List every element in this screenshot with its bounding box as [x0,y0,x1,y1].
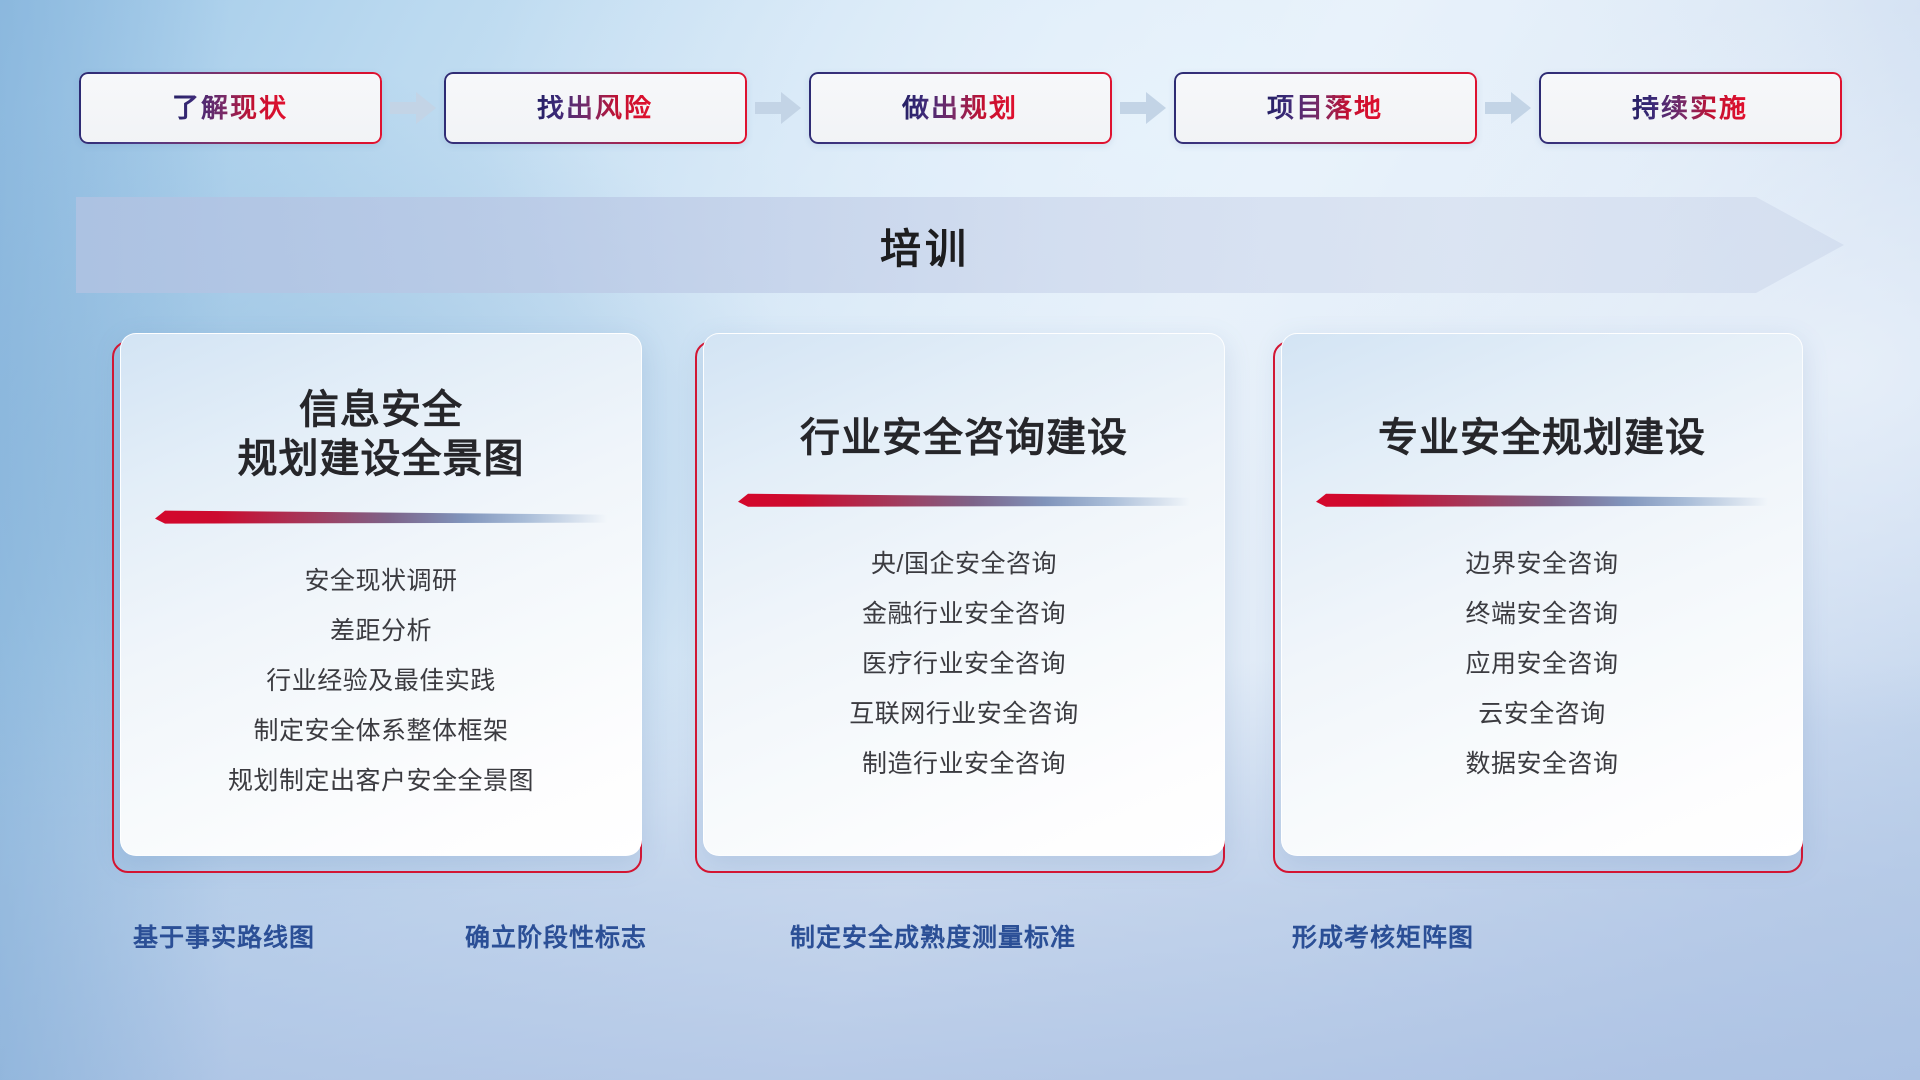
process-step-flow: 了解现状 找出风险 做出规划 项目落地 持续实施 [0,72,1920,144]
right-arrow-icon-2 [747,72,809,144]
card-2[interactable]: 行业安全咨询建设 央/国企安全咨询 金融行业安全咨询 医疗行业安全咨询 互联网行… [695,333,1225,873]
card-3-list: 边界安全咨询 终端安全咨询 应用安全咨询 云安全咨询 数据安全咨询 [1282,539,1802,789]
list-item: 终端安全咨询 [1465,589,1618,639]
footnote-2: 确立阶段性标志 [465,918,647,954]
step-label-4: 项目落地 [1267,95,1383,122]
list-item: 应用安全咨询 [1465,639,1618,689]
card-3-title-line-1: 专业安全规划建设 [1378,414,1706,463]
training-banner: 培训 [76,197,1844,293]
right-arrow-icon-1 [382,72,444,144]
step-chip-3[interactable]: 做出规划 [809,72,1112,144]
list-item: 安全现状调研 [304,556,457,606]
banner-title: 培训 [76,197,1844,293]
footnote-4: 形成考核矩阵图 [1292,918,1474,954]
list-item: 互联网行业安全咨询 [849,689,1079,739]
list-item: 云安全咨询 [1478,689,1606,739]
card-1-title-line-2: 规划建设全景图 [238,435,525,484]
card-2-title-line-1: 行业安全咨询建设 [800,414,1128,463]
card-3[interactable]: 专业安全规划建设 边界安全咨询 终端安全咨询 应用安全咨询 云安全咨询 数据安全… [1273,333,1803,873]
card-1[interactable]: 信息安全 规划建设全景图 安全现状调研 差距分析 行业经验及最佳实践 制定安全体… [112,333,642,873]
step-label-3: 做出规划 [902,95,1018,122]
card-1-title: 信息安全 规划建设全景图 [238,386,525,484]
card-2-title: 行业安全咨询建设 [800,414,1128,463]
card-1-body: 信息安全 规划建设全景图 安全现状调研 差距分析 行业经验及最佳实践 制定安全体… [120,333,642,856]
card-1-title-line-1: 信息安全 [238,386,525,435]
right-arrow-icon-4 [1477,72,1539,144]
card-2-body: 行业安全咨询建设 央/国企安全咨询 金融行业安全咨询 医疗行业安全咨询 互联网行… [703,333,1225,856]
step-chip-1[interactable]: 了解现状 [79,72,382,144]
card-3-title: 专业安全规划建设 [1378,414,1706,463]
list-item: 制定安全体系整体框架 [253,706,508,756]
step-chip-5[interactable]: 持续实施 [1539,72,1842,144]
card-group: 信息安全 规划建设全景图 安全现状调研 差距分析 行业经验及最佳实践 制定安全体… [0,333,1920,873]
card-3-divider [1316,493,1768,509]
list-item: 制造行业安全咨询 [862,739,1066,789]
step-chip-2[interactable]: 找出风险 [444,72,747,144]
list-item: 医疗行业安全咨询 [862,639,1066,689]
right-arrow-icon-3 [1112,72,1174,144]
list-item: 数据安全咨询 [1465,739,1618,789]
card-2-list: 央/国企安全咨询 金融行业安全咨询 医疗行业安全咨询 互联网行业安全咨询 制造行… [704,539,1224,789]
list-item: 央/国企安全咨询 [871,539,1057,589]
list-item: 规划制定出客户安全全景图 [228,756,534,806]
card-2-divider [738,493,1190,509]
step-label-1: 了解现状 [172,95,288,122]
card-1-list: 安全现状调研 差距分析 行业经验及最佳实践 制定安全体系整体框架 规划制定出客户… [121,556,641,806]
list-item: 金融行业安全咨询 [862,589,1066,639]
footnote-row: 基于事实路线图 确立阶段性标志 制定安全成熟度测量标准 形成考核矩阵图 [0,918,1920,964]
card-3-body: 专业安全规划建设 边界安全咨询 终端安全咨询 应用安全咨询 云安全咨询 数据安全… [1281,333,1803,856]
footnote-3: 制定安全成熟度测量标准 [790,918,1076,954]
list-item: 行业经验及最佳实践 [266,656,496,706]
footnote-1: 基于事实路线图 [133,918,315,954]
list-item: 差距分析 [330,606,432,656]
list-item: 边界安全咨询 [1465,539,1618,589]
step-label-2: 找出风险 [537,95,653,122]
step-label-5: 持续实施 [1632,95,1748,122]
card-1-divider [155,510,607,526]
step-chip-4[interactable]: 项目落地 [1174,72,1477,144]
